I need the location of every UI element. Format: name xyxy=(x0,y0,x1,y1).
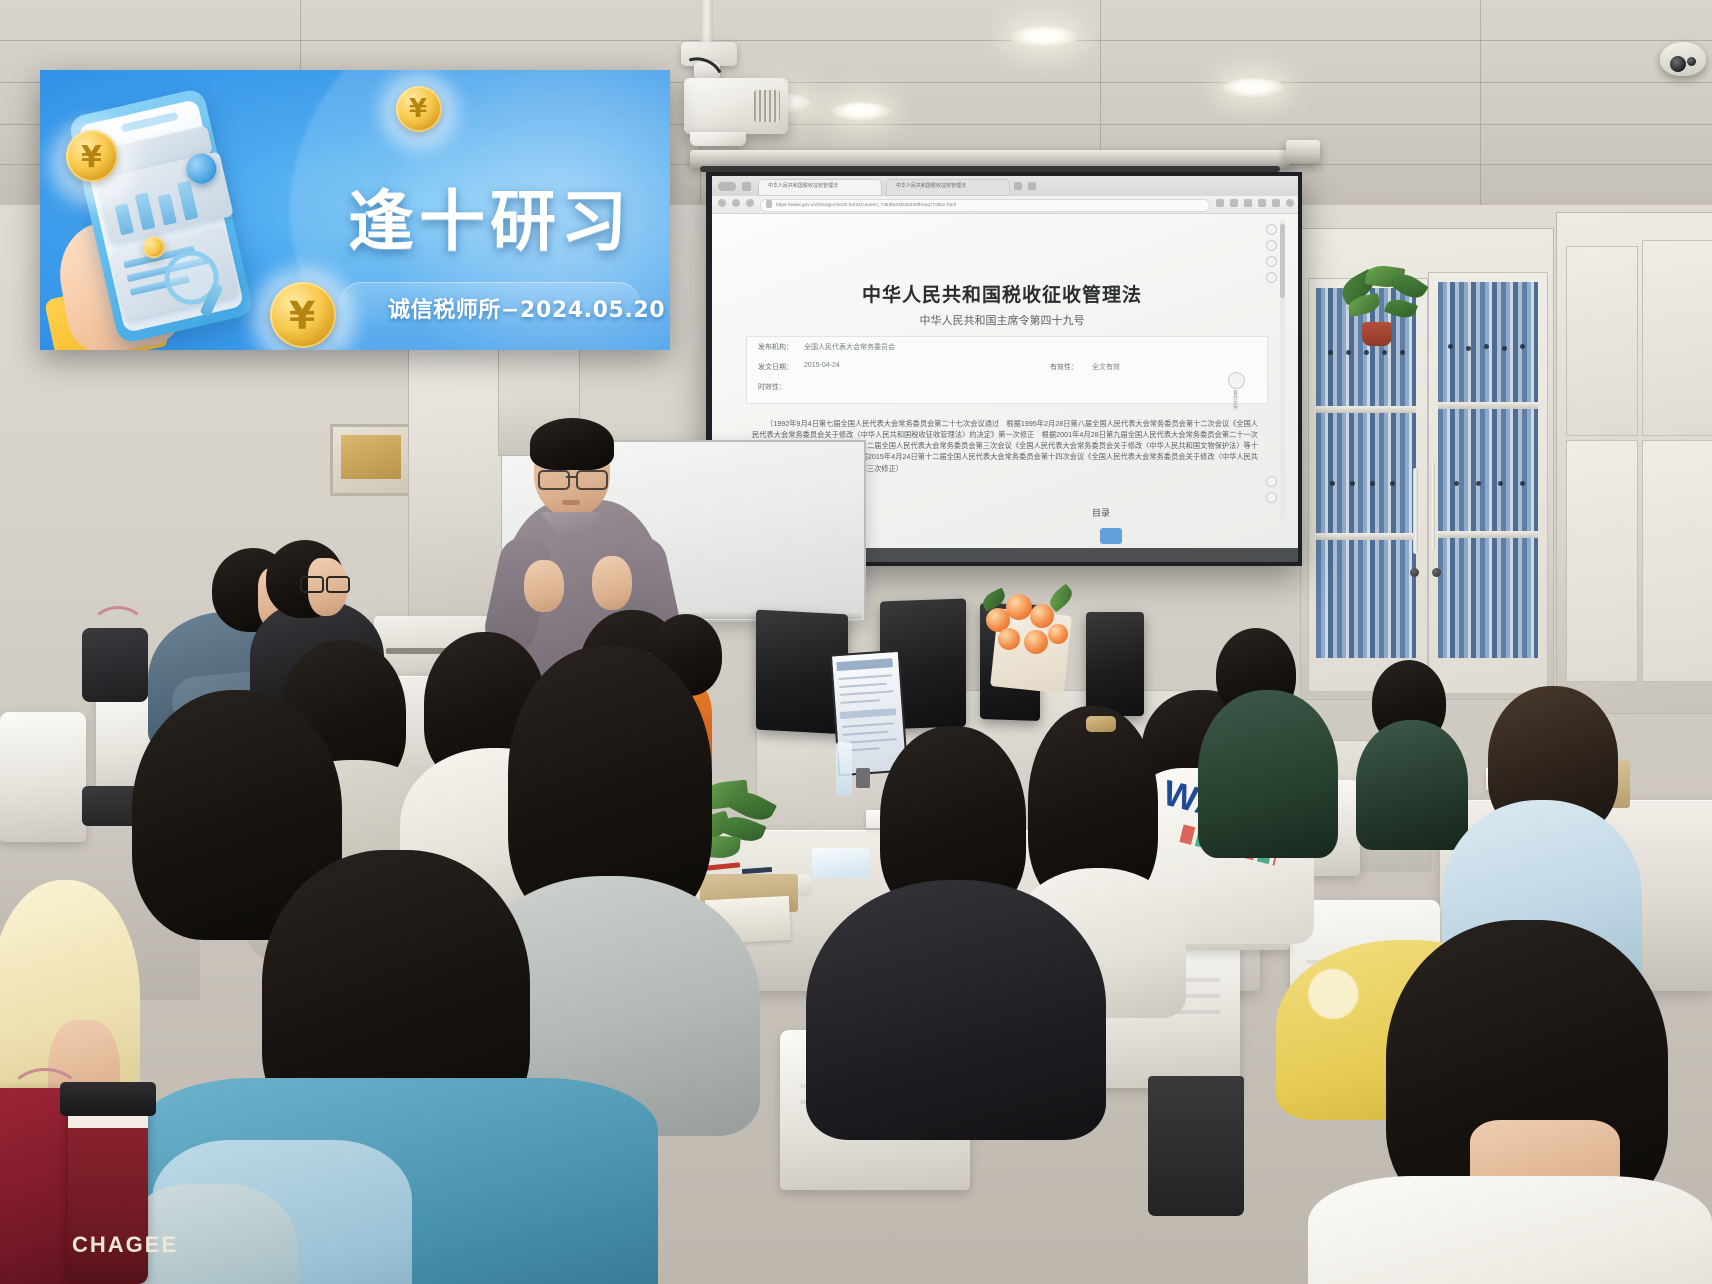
projection-screen-housing xyxy=(1286,140,1320,164)
url-text: https://www.gov.cn/zhengce/2015-04/24/co… xyxy=(776,199,1196,210)
sidebar-tool-icon[interactable] xyxy=(1266,272,1277,283)
sidebar-tool-icon[interactable] xyxy=(1266,476,1277,487)
sidebar-tool-icon[interactable] xyxy=(1266,256,1277,267)
yuan-symbol: ¥ xyxy=(289,294,315,338)
lock-icon xyxy=(766,200,772,208)
camera-lens xyxy=(1670,56,1686,72)
framed-picture xyxy=(330,424,418,496)
training-session-photo: 中华人民共和国税收征收管理法 中华人民共和国税收征收管理法 https://ww… xyxy=(0,0,1712,1284)
presenter-glasses xyxy=(538,470,606,486)
camera-ir-led xyxy=(1687,57,1696,66)
tab-list-icon[interactable] xyxy=(1028,182,1036,190)
cabinet-lock[interactable] xyxy=(1432,568,1441,577)
cabinet-door xyxy=(1642,440,1712,682)
projector-lens-housing xyxy=(690,132,746,146)
new-window-icon[interactable] xyxy=(742,182,751,191)
cabinet-glass-panel xyxy=(1316,540,1416,658)
handbag-strap xyxy=(90,606,146,652)
bookmark-icon[interactable] xyxy=(1258,199,1266,207)
meta-label-date: 发文日期： xyxy=(758,362,793,372)
banner-title: 逢十研习 xyxy=(348,168,632,264)
binder-row xyxy=(1316,540,1416,658)
cabinet-door xyxy=(1566,440,1638,682)
meta-value-issuer: 全国人民代表大会常务委员会 xyxy=(804,342,895,352)
presenter-right-hand xyxy=(592,556,632,610)
presenter-left-hand xyxy=(524,560,564,612)
scrollbar-thumb[interactable] xyxy=(1280,224,1285,298)
presenter-mouth xyxy=(562,500,580,505)
page-action-button[interactable] xyxy=(1100,528,1122,544)
cabinet-glass-panel xyxy=(1438,409,1538,531)
meta-value-validity: 全文有效 xyxy=(1092,362,1120,372)
yuan-symbol: ¥ xyxy=(409,94,427,124)
beverage-cup-band xyxy=(68,1116,148,1128)
translate-icon[interactable] xyxy=(1216,199,1224,207)
audience-torso-green-polo xyxy=(1198,690,1338,858)
browser-tab-label: 中华人民共和国税收征收管理法 xyxy=(896,179,1000,194)
meta-label-issuer: 发布机构： xyxy=(758,342,793,352)
waste-bin xyxy=(1148,1076,1244,1216)
binder-row xyxy=(1316,413,1416,533)
profile-icon[interactable] xyxy=(1286,199,1294,207)
back-icon[interactable] xyxy=(718,199,726,207)
cabinet-shelf xyxy=(1316,533,1416,540)
presenter-hair xyxy=(530,418,614,470)
ceiling-downlight xyxy=(1222,78,1284,98)
audience-glasses-left-man-black xyxy=(300,576,346,589)
audience-torso-right-back xyxy=(1356,720,1468,850)
ceiling-downlight xyxy=(1010,26,1078,48)
dome-security-camera xyxy=(1660,42,1706,76)
cabinet-lock[interactable] xyxy=(1410,568,1419,577)
ceiling-downlight xyxy=(832,102,890,121)
browser-menu-icon[interactable] xyxy=(718,182,736,191)
cabinet-shelf xyxy=(1438,402,1538,409)
reload-icon[interactable] xyxy=(746,199,754,207)
office-chair[interactable] xyxy=(0,712,86,842)
monitor-stand xyxy=(856,768,870,788)
sidebar-tool-icon[interactable] xyxy=(1266,240,1277,251)
meta-label-validity: 有效性： xyxy=(1050,362,1078,372)
cabinet-glass-panel xyxy=(1438,282,1538,402)
extensions-icon[interactable] xyxy=(1272,199,1280,207)
sidebar-tool-icon[interactable] xyxy=(1266,492,1277,503)
cabinet-shelf xyxy=(1316,406,1416,413)
projector-vent xyxy=(754,90,780,122)
projector-mount-rod xyxy=(700,0,713,46)
yuan-symbol: ¥ xyxy=(81,140,102,175)
meta-label-timeliness: 时效性： xyxy=(758,382,786,392)
wall-cabinet xyxy=(408,344,502,646)
computer-monitor xyxy=(1086,612,1144,716)
picture-inner xyxy=(341,435,401,479)
cabinet-handle[interactable] xyxy=(1413,468,1418,554)
event-banner-overlay: ¥ ¥ ¥ 逢十研习 诚信税师所−2024.05.20 xyxy=(40,70,670,350)
hair-clip xyxy=(1086,716,1116,732)
cabinet-shelf xyxy=(1438,531,1538,538)
document-subtitle: 中华人民共和国主席令第四十九号 xyxy=(782,312,1222,328)
beverage-cup-brand: CHAGEE xyxy=(72,1232,172,1258)
sidebar-tool-icon[interactable] xyxy=(1266,224,1277,235)
cabinet-glass-panel xyxy=(1316,413,1416,533)
cabinet-glass-panel xyxy=(1438,538,1538,658)
document-title: 中华人民共和国税收征收管理法 xyxy=(782,280,1222,307)
plant-pot xyxy=(1362,322,1392,346)
beverage-cup-lid xyxy=(60,1082,156,1116)
binder-row xyxy=(1438,409,1538,531)
binder-row xyxy=(1438,538,1538,658)
cabinet-handle[interactable] xyxy=(1430,462,1435,550)
audience-torso-front-white-tee xyxy=(1308,1176,1712,1284)
collapse-panel-icon[interactable] xyxy=(1228,372,1245,389)
water-bottle xyxy=(836,742,852,796)
meta-value-date: 2015-04-24 xyxy=(804,362,840,369)
cabinet-door xyxy=(1642,240,1712,436)
cabinet-door xyxy=(1566,246,1638,436)
new-tab-icon[interactable] xyxy=(1014,182,1022,190)
edit-icon[interactable] xyxy=(1230,199,1238,207)
browser-tab-label: 中华人民共和国税收征收管理法 xyxy=(768,179,872,194)
toc-heading: 目录 xyxy=(1092,506,1110,519)
banner-subtitle: 诚信税师所−2024.05.20 xyxy=(388,292,665,324)
audience-torso-black-top xyxy=(806,880,1106,1140)
tissue-box xyxy=(812,848,870,878)
sidebar-vertical-label: 官方文件 xyxy=(1232,390,1239,410)
binder-row xyxy=(1438,282,1538,402)
reader-icon[interactable] xyxy=(1244,199,1252,207)
forward-icon[interactable] xyxy=(732,199,740,207)
